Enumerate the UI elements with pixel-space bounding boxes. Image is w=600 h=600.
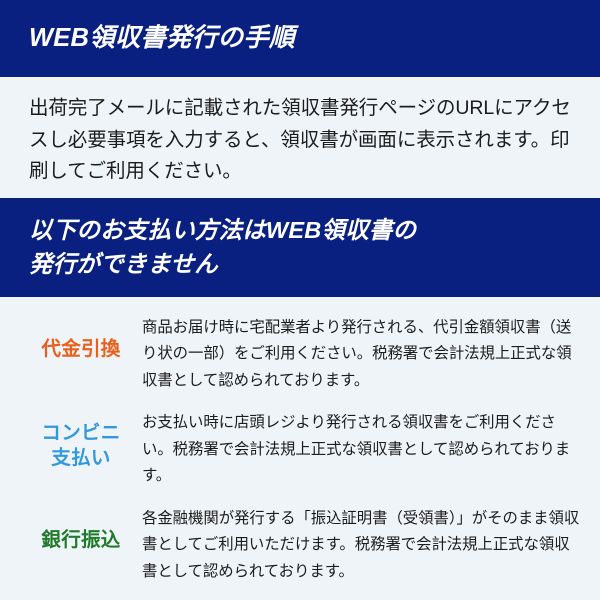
intro-section: 出荷完了メールに記載された領収書発行ページのURLにアクセスし必要事項を入力する… — [0, 77, 600, 198]
payment-method-label-cod: 代金引換 — [20, 313, 142, 362]
receipt-guide-page: WEB領収書発行の手順 出荷完了メールに記載された領収書発行ページのURLにアク… — [0, 0, 600, 600]
payment-method-row-cod: 代金引換 商品お届け時に宅配業者より発行される、代引金額領収書（送り状の一部）を… — [20, 313, 580, 394]
payment-method-row-bank-transfer: 銀行振込 各金融機関が発行する「振込証明書（受領書）」がそのまま領収書としてご利… — [20, 504, 580, 585]
main-banner-title: WEB領収書発行の手順 — [29, 24, 600, 52]
payment-method-label-bank-transfer: 銀行振込 — [20, 504, 142, 553]
main-banner: WEB領収書発行の手順 — [0, 0, 600, 77]
payment-method-row-konbini: コンビニ 支払い お支払い時に店頭レジより発行される領収書をご利用ください。税務… — [20, 408, 580, 489]
payment-methods-list: 代金引換 商品お届け時に宅配業者より発行される、代引金額領収書（送り状の一部）を… — [0, 297, 600, 600]
secondary-banner: 以下のお支払い方法はWEB領収書の 発行ができません — [0, 198, 600, 297]
payment-method-description-bank-transfer: 各金融機関が発行する「振込証明書（受領書）」がそのまま領収書としてご利用いただけ… — [142, 504, 580, 585]
payment-method-description-konbini: お支払い時に店頭レジより発行される領収書をご利用ください。税務署で会計法規上正式… — [142, 408, 580, 489]
intro-paragraph: 出荷完了メールに記載された領収書発行ページのURLにアクセスし必要事項を入力する… — [29, 93, 576, 188]
secondary-banner-title: 以下のお支払い方法はWEB領収書の 発行ができません — [29, 214, 600, 281]
payment-method-description-cod: 商品お届け時に宅配業者より発行される、代引金額領収書（送り状の一部）をご利用くだ… — [142, 313, 580, 394]
payment-method-label-konbini: コンビニ 支払い — [20, 408, 142, 471]
